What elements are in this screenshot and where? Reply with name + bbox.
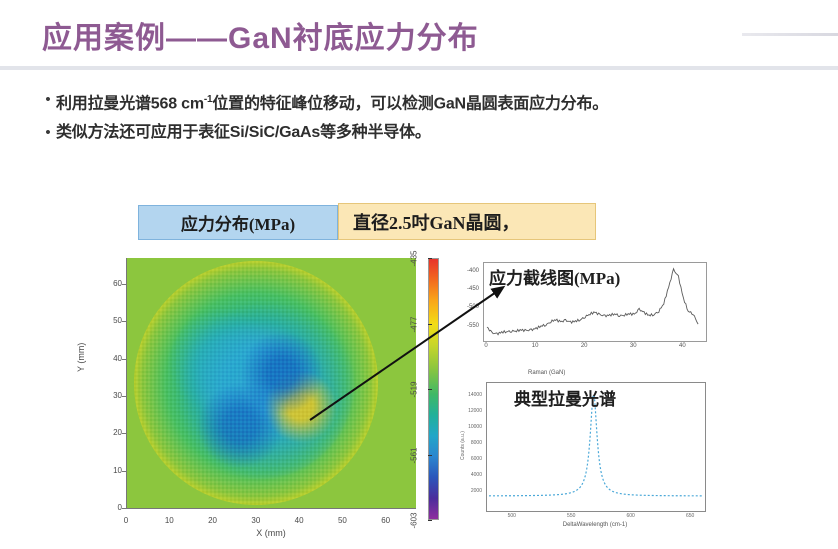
- heatmap-x-tick: 60: [381, 516, 390, 525]
- bullet-marker-icon: •: [40, 88, 56, 112]
- heatmap-plot-area: [126, 258, 416, 508]
- heatmap-x-tick: 30: [251, 516, 260, 525]
- cross-section-x-tick: 40: [679, 343, 686, 349]
- raman-y-tick: 6000: [458, 456, 482, 462]
- wafer-pixel-noise: [134, 261, 378, 505]
- cross-section-y-tick: -400: [457, 268, 479, 274]
- heatmap-y-tick: 0: [96, 503, 122, 512]
- bullet-list: • 利用拉曼光谱568 cm-1位置的特征峰位移动，可以检测GaN晶圆表面应力分…: [40, 88, 838, 150]
- bullet-text: 利用拉曼光谱568 cm-1位置的特征峰位移动，可以检测GaN晶圆表面应力分布。: [56, 88, 608, 116]
- heatmap-x-tick: 0: [124, 516, 128, 525]
- wafer-diameter-label-box: 直径2.5吋GaN晶圆，: [338, 203, 596, 240]
- heatmap-y-tick: 60: [96, 279, 122, 288]
- bullet-text: 类似方法还可应用于表征Si/SiC/GaAs等多种半导体。: [56, 121, 431, 145]
- heatmap-y-tick: 20: [96, 428, 122, 437]
- title-accent-line: [742, 33, 838, 36]
- raman-x-tick: 650: [686, 513, 694, 519]
- heatmap-y-axis-ticks: 0102030405060: [92, 252, 122, 514]
- bullet-text-after: 位置的特征峰位移动，可以检测GaN晶圆表面应力分布。: [212, 95, 608, 112]
- cross-section-x-tick: 10: [532, 343, 539, 349]
- colorbar-tick-label: -519: [410, 381, 419, 397]
- heatmap-y-tick: 30: [96, 391, 122, 400]
- heatmap-y-axis-label: Y (mm): [76, 343, 86, 372]
- colorbar-tick-mark: [428, 455, 432, 456]
- heatmap-y-tick: 10: [96, 466, 122, 475]
- colorbar-tick-mark: [428, 258, 432, 259]
- heatmap-y-tick: 50: [96, 316, 122, 325]
- raman-x-tick: 500: [508, 513, 516, 519]
- wafer-stress-heatmap-figure: Y (mm) 0102030405060 X (mm) 010203040506…: [78, 252, 438, 544]
- raman-y-tick: 12000: [458, 408, 482, 414]
- colorbar-tick-label: -603: [410, 512, 419, 528]
- raman-caption: 典型拉曼光谱: [500, 390, 630, 410]
- list-item: • 类似方法还可应用于表征Si/SiC/GaAs等多种半导体。: [40, 121, 838, 145]
- cross-section-y-tick: -450: [457, 286, 479, 292]
- bullet-text-before: 利用拉曼光谱568 cm: [56, 95, 204, 112]
- colorbar-tick-mark: [428, 389, 432, 390]
- raman-y-tick: 2000: [458, 488, 482, 494]
- cross-section-y-tick: -500: [457, 304, 479, 310]
- list-item: • 利用拉曼光谱568 cm-1位置的特征峰位移动，可以检测GaN晶圆表面应力分…: [40, 88, 838, 116]
- colorbar-tick-mark: [428, 324, 432, 325]
- raman-y-tick: 14000: [458, 392, 482, 398]
- raman-y-tick: 8000: [458, 440, 482, 446]
- raman-y-tick: 4000: [458, 472, 482, 478]
- wafer-disc: [134, 261, 378, 505]
- raman-x-axis-label: DeltaWavelength (cm-1): [563, 522, 627, 528]
- heatmap-x-tick: 10: [165, 516, 174, 525]
- bullet-text-before: 类似方法还可应用于表征Si/SiC/GaAs等多种半导体。: [56, 124, 431, 141]
- page-title: 应用案例——GaN衬底应力分布: [42, 13, 479, 57]
- cross-section-x-tick: 30: [630, 343, 637, 349]
- raman-plot-title: Raman (GaN): [528, 370, 565, 376]
- heatmap-x-tick: 40: [295, 516, 304, 525]
- raman-x-tick: 600: [626, 513, 634, 519]
- raman-spectrum-inset: Raman (GaN) Counts (a.u.) 典型拉曼光谱 DeltaWa…: [458, 368, 736, 540]
- heatmap-x-tick: 50: [338, 516, 347, 525]
- heatmap-axis-spine: [126, 508, 416, 509]
- colorbar-tick-label: -561: [410, 447, 419, 463]
- title-divider: [0, 66, 838, 70]
- colorbar-tick-label: -435: [410, 250, 419, 266]
- heatmap-x-axis: X (mm) 0102030405060: [126, 510, 416, 540]
- heatmap-x-axis-label: X (mm): [256, 528, 286, 538]
- stress-distribution-label-box: 应力分布(MPa): [138, 205, 338, 240]
- heatmap-x-tick: 20: [208, 516, 217, 525]
- cross-section-x-tick: 20: [581, 343, 588, 349]
- cross-section-x-tick: 0: [484, 343, 487, 349]
- colorbar-tick-mark: [428, 520, 432, 521]
- heatmap-axis-spine: [126, 258, 127, 508]
- bullet-marker-icon: •: [40, 121, 56, 145]
- stress-cross-section-inset: 应力截线图(MPa) -400-450-500-550010203040: [455, 258, 715, 362]
- cross-section-y-tick: -550: [457, 323, 479, 329]
- colorbar-tick-label: -477: [410, 316, 419, 332]
- heatmap-y-tick: 40: [96, 354, 122, 363]
- heatmap-colorbar: -435-477-519-561-603: [418, 258, 442, 526]
- raman-x-tick: 550: [567, 513, 575, 519]
- raman-y-tick: 10000: [458, 424, 482, 430]
- cross-section-title: 应力截线图(MPa): [489, 264, 620, 289]
